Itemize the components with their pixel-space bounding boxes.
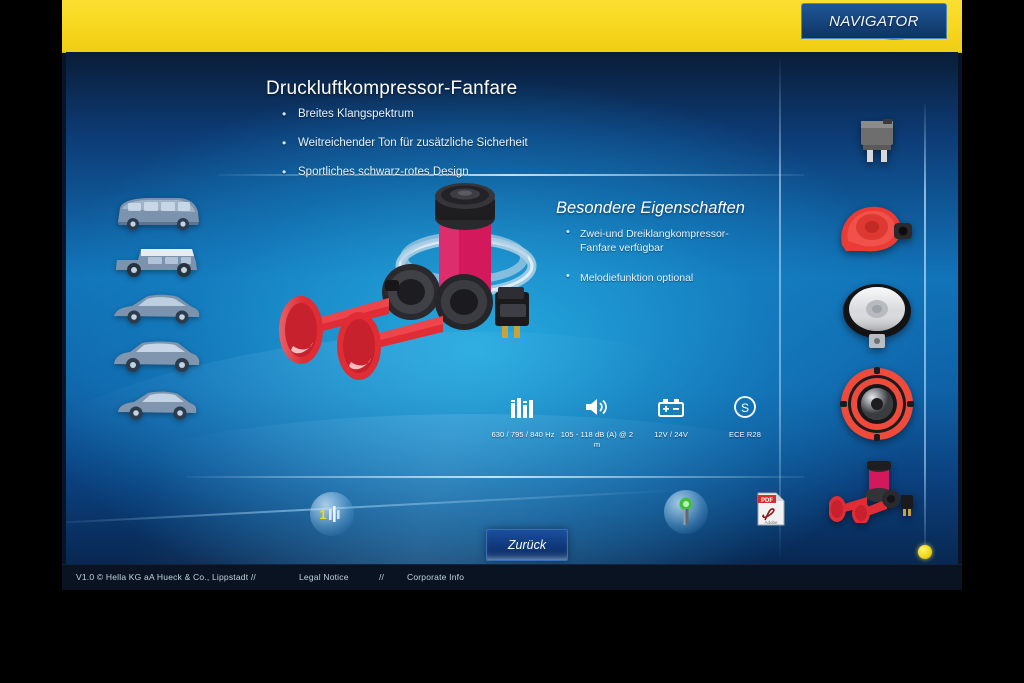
navigator-item-disc-horn-chrome[interactable]: [801, 272, 953, 360]
battery-icon: [634, 392, 708, 422]
vehicle-hatchback[interactable]: [108, 384, 218, 428]
footer-corporate-info-link[interactable]: Corporate Info: [407, 572, 464, 582]
feature-item: Melodiefunktion optional: [558, 271, 758, 285]
navigator-tab[interactable]: NAVIGATOR: [801, 3, 947, 39]
content-stage: Druckluftkompressor-Fanfare Breites Klan…: [66, 52, 958, 564]
bullet-item: Weitreichender Ton für zusätzliche Siche…: [274, 137, 744, 149]
special-features-list: Zwei-und Dreiklangkompressor-Fanfare ver…: [558, 227, 758, 301]
navigator-divider: [779, 60, 781, 556]
back-button[interactable]: Zurück: [486, 529, 568, 561]
svg-text:Adobe: Adobe: [764, 520, 778, 525]
sound-play-button[interactable]: 1: [310, 492, 354, 536]
pdf-document-icon: PDF Adobe: [756, 492, 786, 526]
footer-copyright: V1.0 © Hella KG aA Hueck & Co., Lippstad…: [76, 572, 256, 582]
page-title: Druckluftkompressor-Fanfare: [266, 78, 517, 100]
navigator-item-air-horn-compressor[interactable]: [801, 448, 953, 536]
spec-label: 105 - 118 dB (A) @ 2 m: [560, 430, 634, 450]
screenshot-root: HELLA ® NAVIGATOR Druckluftkompressor-Fa…: [0, 0, 1024, 683]
navigator-item-relay[interactable]: [801, 96, 953, 184]
navigator-scrollbar-thumb[interactable]: [918, 545, 932, 559]
svg-text:S: S: [741, 401, 749, 415]
spec-frequency: 630 / 795 / 840 Hz: [486, 392, 560, 450]
sound-play-icon: 1: [317, 502, 347, 526]
vehicle-offroad[interactable]: [108, 240, 218, 284]
pdf-download-button[interactable]: PDF Adobe: [756, 492, 786, 526]
spec-label: ECE R28: [708, 430, 782, 440]
info-button[interactable]: [664, 490, 708, 534]
footer-legal-notice-link[interactable]: Legal Notice: [299, 572, 349, 582]
background-glow-line: [66, 481, 845, 526]
vehicle-suv[interactable]: [108, 336, 218, 380]
spec-label: 12V / 24V: [634, 430, 708, 440]
product-hero-image: [261, 174, 561, 414]
navigator-scrollbar-track[interactable]: [924, 104, 926, 556]
ece-approval-icon: S: [708, 392, 782, 422]
svg-text:PDF: PDF: [761, 498, 773, 504]
spec-label: 630 / 795 / 840 Hz: [486, 430, 560, 440]
vehicle-van[interactable]: [108, 192, 218, 236]
footer-separator: //: [379, 572, 384, 582]
navigator-item-disc-horn-red[interactable]: [801, 360, 953, 448]
frequency-bars-icon: [486, 392, 560, 422]
vehicle-type-list: [108, 192, 218, 432]
spec-loudness: 105 - 118 dB (A) @ 2 m: [560, 392, 634, 450]
navigator-product-list: [801, 96, 953, 556]
footer-bar: V1.0 © Hella KG aA Hueck & Co., Lippstad…: [62, 564, 962, 590]
feature-item: Zwei-und Dreiklangkompressor-Fanfare ver…: [558, 227, 758, 255]
info-pin-icon: [675, 496, 697, 528]
navigator-item-snail-horn-red[interactable]: [801, 184, 953, 272]
svg-text:1: 1: [319, 507, 326, 522]
divider-bottom: [186, 476, 804, 478]
speaker-icon: [560, 392, 634, 422]
vehicle-sedan[interactable]: [108, 288, 218, 332]
specification-row: 630 / 795 / 840 Hz 105 - 118 dB (A) @ 2 …: [486, 392, 786, 450]
spec-approval: S ECE R28: [708, 392, 782, 450]
application-window: HELLA ® NAVIGATOR Druckluftkompressor-Fa…: [62, 0, 962, 590]
bullet-item: Breites Klangspektrum: [274, 108, 744, 120]
section-subtitle: Besondere Eigenschaften: [556, 199, 745, 218]
spec-voltage: 12V / 24V: [634, 392, 708, 450]
